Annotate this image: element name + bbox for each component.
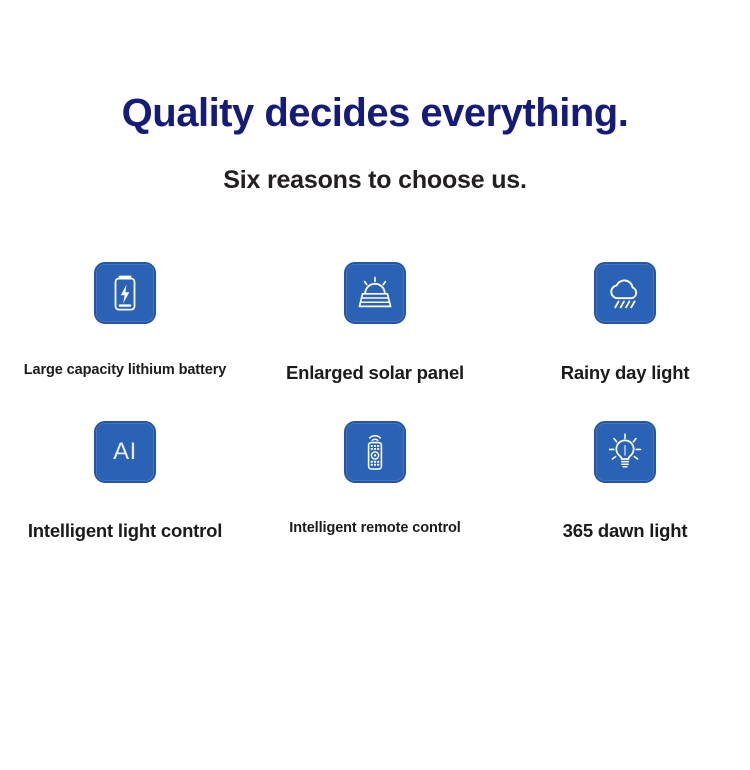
feature-label: Large capacity lithium battery [24, 362, 226, 379]
feature-icon-tile: AI [94, 421, 156, 483]
feature-label: Intelligent remote control [289, 520, 460, 537]
feature-grid: Large capacity lithium battery [0, 262, 750, 542]
feature-icon-tile [594, 421, 656, 483]
promo-page: Quality decides everything. Six reasons … [0, 0, 750, 770]
light-bulb-icon [606, 432, 644, 472]
feature-item-battery: Large capacity lithium battery [0, 262, 250, 379]
feature-item-intelligent-light-control: AI Intelligent light control [0, 421, 250, 542]
feature-item-remote-control: Intelligent remote control [250, 421, 500, 537]
feature-label: 365 dawn light [563, 520, 688, 542]
feature-icon-tile [344, 262, 406, 324]
feature-icon-tile [594, 262, 656, 324]
feature-item-dawn-light: 365 dawn light [500, 421, 750, 542]
feature-row: Large capacity lithium battery [0, 262, 750, 384]
solar-panel-icon [356, 276, 394, 310]
ai-text-icon: AI [113, 440, 137, 464]
feature-row: AI Intelligent light control [0, 421, 750, 542]
feature-label: Rainy day light [561, 362, 690, 384]
remote-control-icon [362, 432, 388, 472]
page-subtitle: Six reasons to choose us. [0, 135, 750, 195]
battery-charging-icon [110, 274, 140, 312]
heading-block: Quality decides everything. Six reasons … [0, 0, 750, 195]
feature-item-solar-panel: Enlarged solar panel [250, 262, 500, 384]
feature-label: Enlarged solar panel [286, 362, 464, 384]
rain-cloud-icon [606, 275, 644, 311]
page-title: Quality decides everything. [0, 92, 750, 135]
feature-icon-tile [94, 262, 156, 324]
feature-icon-tile [344, 421, 406, 483]
feature-item-rainy-day: Rainy day light [500, 262, 750, 384]
feature-label: Intelligent light control [28, 520, 222, 542]
